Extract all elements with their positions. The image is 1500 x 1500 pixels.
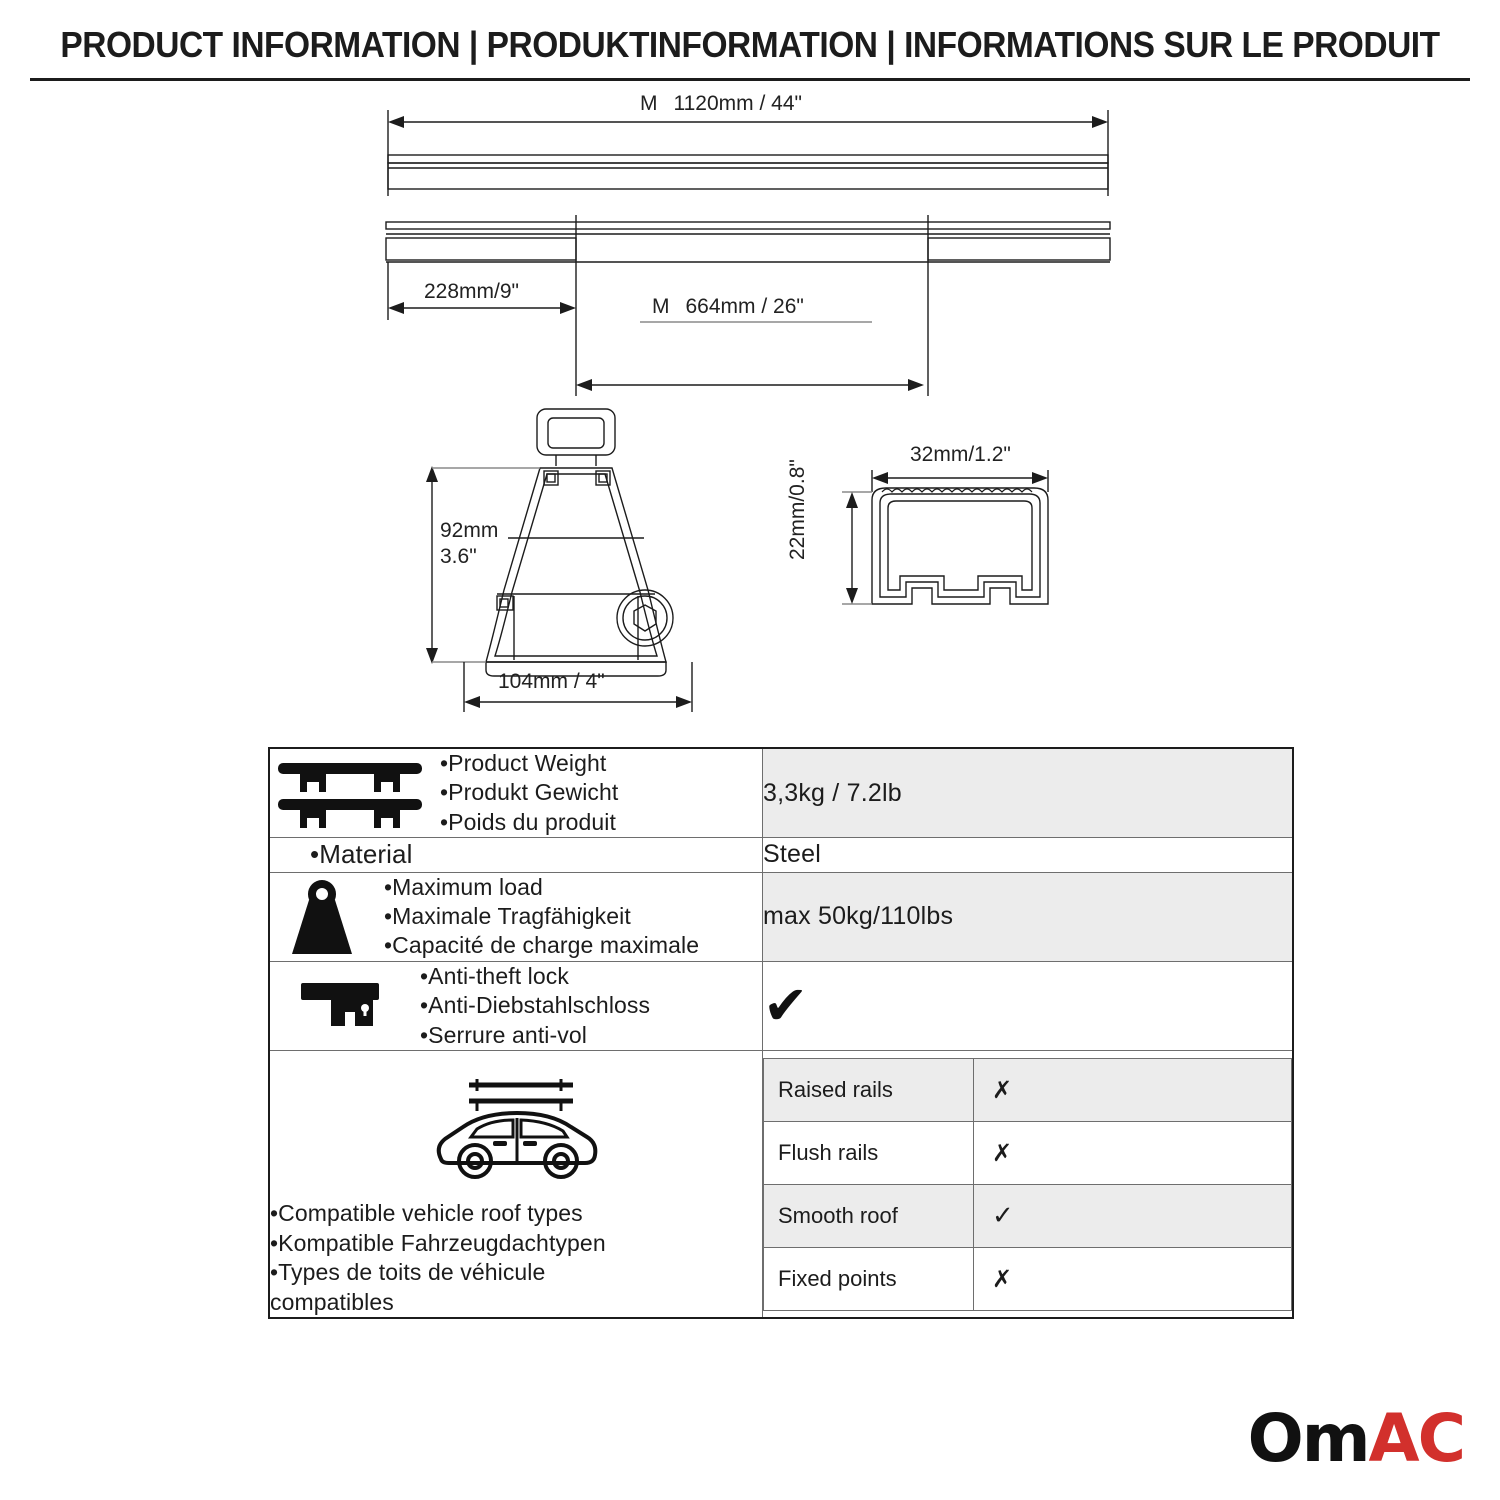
product-information-sheet: PRODUCT INFORMATION | PRODUKTINFORMATION… [0, 0, 1500, 1500]
roof-types-label-texts: •Compatible vehicle roof types •Kompatib… [270, 1199, 606, 1317]
specification-table: •Product Weight •Produkt Gewicht •Poids … [268, 747, 1294, 1319]
checkmark-icon: ✔ [763, 979, 808, 1033]
roof-type-name: Fixed points [764, 1247, 974, 1310]
roof-type-mark: ✓ [974, 1184, 1292, 1247]
roof-type-mark: ✗ [974, 1247, 1292, 1310]
roof-type-mark: ✗ [974, 1058, 1292, 1121]
roof-type-name: Smooth roof [764, 1184, 974, 1247]
spec-label-cell: •Material [269, 838, 763, 872]
roof-label-en: •Compatible vehicle roof types [270, 1199, 606, 1228]
lock-icon [270, 975, 410, 1037]
dim-bar-length: M1120mm / 44" [640, 92, 802, 116]
cross-icon: ✗ [992, 1265, 1012, 1293]
spec-label-fr: •Capacité de charge maximale [384, 931, 699, 960]
spec-label-de: •Anti-Diebstahlschloss [420, 991, 650, 1020]
spec-value-anti-theft: ✔ [763, 961, 1294, 1050]
table-row: •Compatible vehicle roof types •Kompatib… [269, 1051, 1293, 1318]
spec-label-en: •Material [310, 838, 412, 871]
roof-type-name: Raised rails [764, 1058, 974, 1121]
dim-profile-width: 32mm/1.2" [910, 443, 1011, 467]
table-row: •Anti-theft lock •Anti-Diebstahlschloss … [269, 961, 1293, 1050]
check-icon: ✓ [992, 1201, 1014, 1231]
car-with-roofrack-icon [270, 1065, 762, 1199]
spec-label-en: •Maximum load [384, 873, 699, 902]
roof-types-subtable-cell: Raised rails ✗ Flush rails ✗ [763, 1051, 1294, 1318]
roof-types-table: Raised rails ✗ Flush rails ✗ [763, 1058, 1292, 1311]
weight-icon [270, 876, 374, 958]
spec-label-de: •Maximale Tragfähigkeit [384, 902, 699, 931]
table-row: •Maximum load •Maximale Tragfähigkeit •C… [269, 872, 1293, 961]
roof-label-fr: •Types de toits de véhicule [270, 1258, 606, 1287]
roof-label-fr-cont: compatibles [270, 1288, 606, 1317]
spec-label-cell: •Anti-theft lock •Anti-Diebstahlschloss … [269, 961, 763, 1050]
roof-type-row: Fixed points ✗ [764, 1247, 1292, 1310]
spec-label-de: •Produkt Gewicht [440, 778, 618, 807]
spec-value-max-load: max 50kg/110lbs [763, 872, 1294, 961]
spec-label-texts: •Anti-theft lock •Anti-Diebstahlschloss … [420, 962, 650, 1050]
table-row: •Product Weight •Produkt Gewicht •Poids … [269, 748, 1293, 838]
spec-label-en: •Product Weight [440, 749, 618, 778]
spec-label-cell: •Maximum load •Maximale Tragfähigkeit •C… [269, 872, 763, 961]
roof-type-row: Smooth roof ✓ [764, 1184, 1292, 1247]
roof-type-row: Flush rails ✗ [764, 1121, 1292, 1184]
omac-logo: OmAC [1248, 1406, 1464, 1472]
roof-type-mark: ✗ [974, 1121, 1292, 1184]
logo-text-red: AC [1368, 1400, 1464, 1477]
crossbars-icon [270, 755, 430, 831]
spec-value-material: Steel [763, 838, 1294, 872]
spec-value-weight: 3,3kg / 7.2lb [763, 748, 1294, 838]
logo-text-dark: Om [1248, 1400, 1369, 1477]
dim-foot-width: 104mm / 4" [498, 670, 605, 694]
roof-types-label-cell: •Compatible vehicle roof types •Kompatib… [269, 1051, 763, 1318]
spec-label-fr: •Serrure anti-vol [420, 1021, 650, 1050]
spec-label-texts: •Product Weight •Produkt Gewicht •Poids … [440, 749, 618, 837]
spec-label-texts: •Maximum load •Maximale Tragfähigkeit •C… [384, 873, 699, 961]
dim-foot-height: 92mm 3.6" [440, 518, 498, 571]
roof-type-name: Flush rails [764, 1121, 974, 1184]
spec-label-fr: •Poids du produit [440, 808, 618, 837]
roof-label-de: •Kompatible Fahrzeugdachtypen [270, 1229, 606, 1258]
roof-type-row: Raised rails ✗ [764, 1058, 1292, 1121]
cross-icon: ✗ [992, 1139, 1012, 1167]
dim-profile-height: 22mm/0.8" [786, 459, 810, 560]
cross-icon: ✗ [992, 1076, 1012, 1104]
spec-label-en: •Anti-theft lock [420, 962, 650, 991]
spec-label-cell: •Product Weight •Produkt Gewicht •Poids … [269, 748, 763, 838]
spec-label-texts: •Material [310, 838, 412, 871]
dim-bar-spread: M664mm / 26" [652, 295, 804, 319]
dim-foot-offset: 228mm/9" [424, 280, 519, 304]
technical-drawing: M1120mm / 44" 228mm/9" M664mm / 26" 92mm… [0, 0, 1500, 740]
table-row: •Material Steel [269, 838, 1293, 872]
